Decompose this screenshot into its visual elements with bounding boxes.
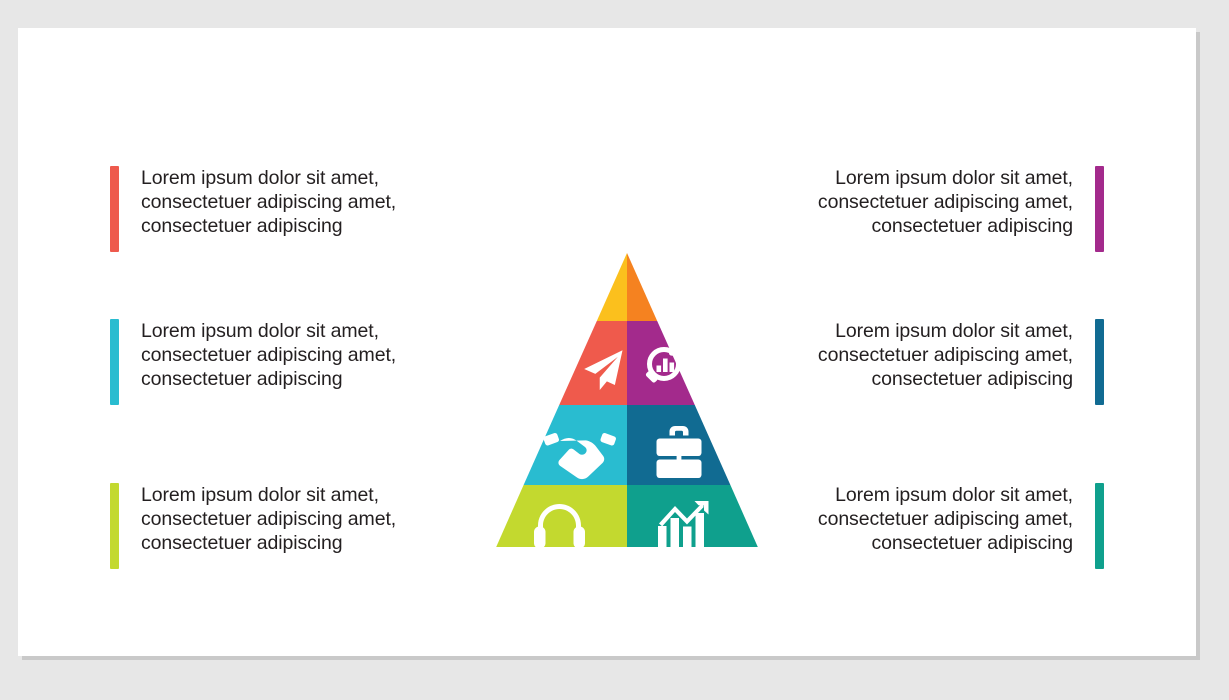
pyramid-svg bbox=[472, 235, 764, 547]
accent-bar-right-1 bbox=[1095, 166, 1104, 252]
text-block-left-2[interactable]: Lorem ipsum dolor sit amet, consectetuer… bbox=[110, 319, 500, 405]
pyramid-segment-apex-right[interactable] bbox=[627, 253, 657, 321]
pyramid-diagram bbox=[472, 235, 764, 547]
accent-bar-right-3 bbox=[1095, 483, 1104, 569]
slide-canvas: Lorem ipsum dolor sit amet, consectetuer… bbox=[18, 28, 1196, 656]
text-block-left-2-body: Lorem ipsum dolor sit amet, consectetuer… bbox=[119, 319, 500, 405]
text-block-right-3[interactable]: Lorem ipsum dolor sit amet, consectetuer… bbox=[714, 483, 1104, 569]
text-block-right-2-body: Lorem ipsum dolor sit amet, consectetuer… bbox=[714, 319, 1095, 405]
accent-bar-left-1 bbox=[110, 166, 119, 252]
text-block-left-1-body: Lorem ipsum dolor sit amet, consectetuer… bbox=[119, 166, 500, 252]
text-block-left-1[interactable]: Lorem ipsum dolor sit amet, consectetuer… bbox=[110, 166, 500, 252]
text-block-right-2[interactable]: Lorem ipsum dolor sit amet, consectetuer… bbox=[714, 319, 1104, 405]
pyramid-segment-tier2-right[interactable] bbox=[627, 321, 695, 405]
text-block-right-3-body: Lorem ipsum dolor sit amet, consectetuer… bbox=[714, 483, 1095, 569]
text-block-right-1[interactable]: Lorem ipsum dolor sit amet, consectetuer… bbox=[714, 166, 1104, 252]
pyramid-segment-apex-left[interactable] bbox=[597, 253, 627, 321]
accent-bar-left-2 bbox=[110, 319, 119, 405]
text-block-left-3-body: Lorem ipsum dolor sit amet, consectetuer… bbox=[119, 483, 500, 569]
accent-bar-right-2 bbox=[1095, 319, 1104, 405]
text-block-left-3[interactable]: Lorem ipsum dolor sit amet, consectetuer… bbox=[110, 483, 500, 569]
text-block-right-1-body: Lorem ipsum dolor sit amet, consectetuer… bbox=[714, 166, 1095, 252]
pyramid-segment-tier4-left[interactable] bbox=[490, 485, 627, 547]
accent-bar-left-3 bbox=[110, 483, 119, 569]
